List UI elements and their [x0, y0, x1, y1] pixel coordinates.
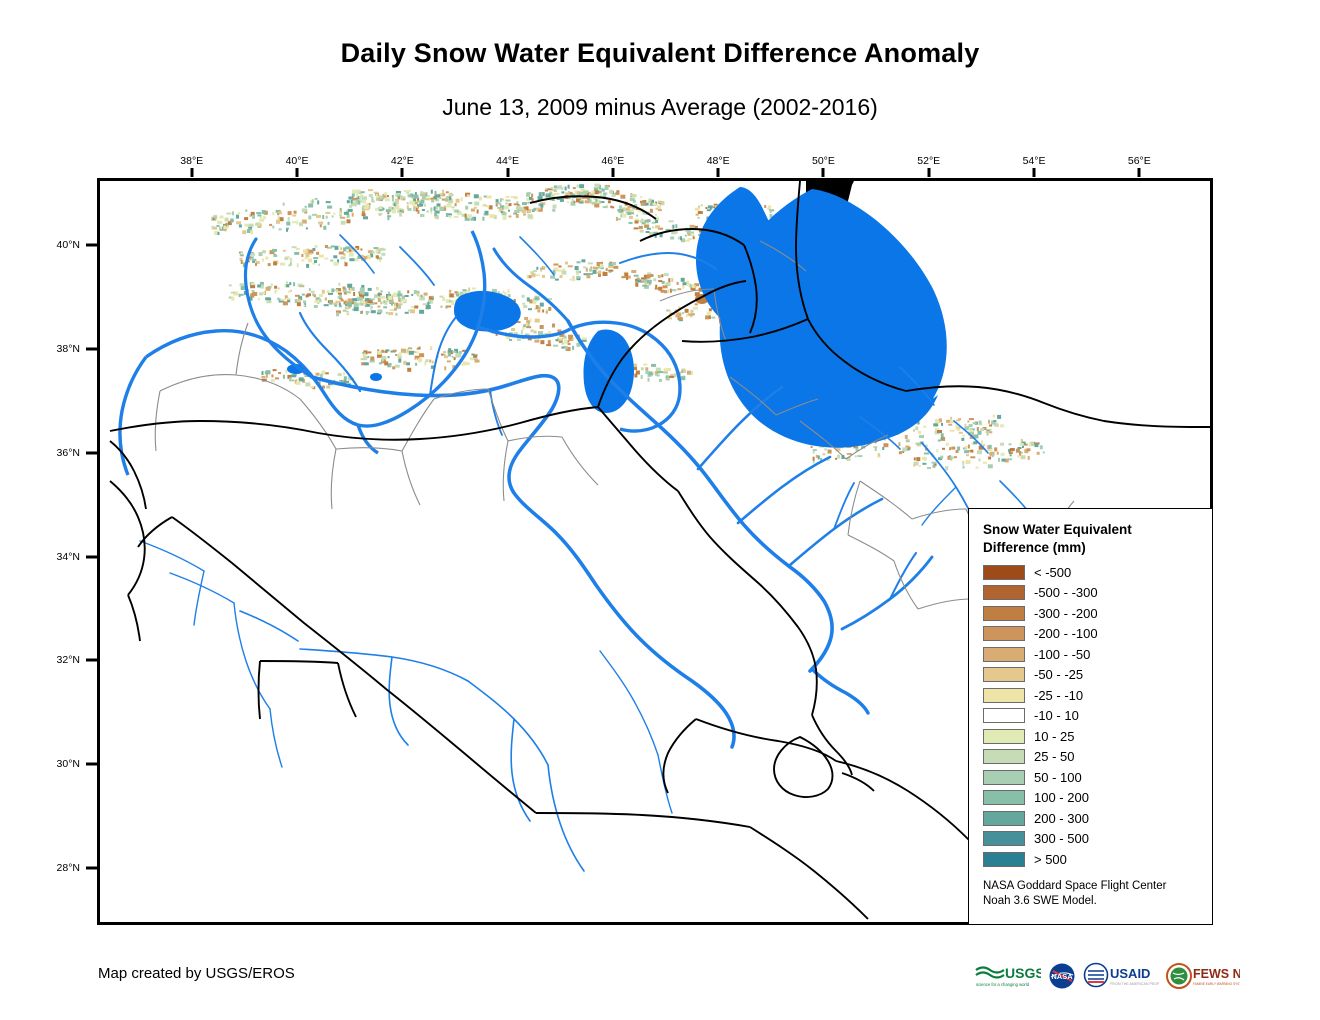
legend-row[interactable]: < -500	[983, 562, 1202, 583]
map-credit: Map created by USGS/EROS	[98, 965, 295, 982]
anomaly-pixel	[367, 351, 371, 353]
anomaly-pixel	[265, 257, 268, 260]
anomaly-pixel	[924, 453, 929, 455]
anomaly-pixel	[487, 196, 492, 199]
anomaly-pixel	[653, 278, 656, 281]
anomaly-pixel	[963, 466, 965, 469]
anomaly-pixel	[388, 296, 392, 300]
anomaly-pixel	[1021, 455, 1026, 459]
anomaly-pixel	[620, 213, 624, 215]
anomaly-pixel	[643, 364, 647, 366]
anomaly-pixel	[346, 381, 349, 383]
anomaly-pixel	[343, 287, 346, 290]
anomaly-pixel	[239, 294, 244, 296]
anomaly-pixel	[621, 210, 623, 212]
anomaly-pixel	[319, 255, 324, 258]
anomaly-pixel	[603, 272, 608, 276]
anomaly-pixel	[599, 201, 601, 204]
anomaly-pixel	[600, 264, 603, 268]
anomaly-pixel	[629, 216, 633, 219]
anomaly-pixel	[659, 379, 662, 382]
anomaly-pixel	[965, 424, 967, 427]
anomaly-pixel	[1040, 445, 1043, 449]
anomaly-pixel	[338, 373, 342, 376]
legend-row[interactable]: 200 - 300	[983, 808, 1202, 829]
anomaly-pixel	[590, 266, 592, 268]
legend-row[interactable]: 10 - 25	[983, 726, 1202, 747]
anomaly-pixel	[392, 198, 394, 202]
anomaly-pixel	[568, 265, 573, 267]
anomaly-pixel	[364, 362, 369, 365]
anomaly-pixel	[331, 245, 335, 247]
anomaly-pixel	[997, 415, 1001, 419]
anomaly-pixel	[661, 274, 663, 277]
anomaly-pixel	[608, 200, 611, 203]
anomaly-pixel	[431, 190, 433, 194]
legend-label: < -500	[1034, 565, 1071, 580]
legend-row[interactable]: 50 - 100	[983, 767, 1202, 788]
anomaly-pixel	[395, 365, 400, 368]
anomaly-pixel	[361, 311, 363, 314]
legend-row[interactable]: -100 - -50	[983, 644, 1202, 665]
anomaly-pixel	[278, 372, 281, 374]
anomaly-pixel	[231, 292, 236, 294]
anomaly-pixel	[419, 298, 424, 300]
anomaly-pixel	[562, 271, 567, 275]
legend-label: 100 - 200	[1034, 790, 1089, 805]
anomaly-pixel	[485, 211, 489, 215]
legend-swatch	[983, 790, 1025, 805]
anomaly-pixel	[565, 187, 567, 191]
anomaly-pixel	[634, 275, 639, 277]
anomaly-pixel	[527, 192, 531, 194]
anomaly-pixel	[315, 245, 318, 248]
anomaly-pixel	[285, 298, 290, 300]
legend-row[interactable]: > 500	[983, 849, 1202, 870]
anomaly-pixel	[354, 307, 359, 311]
anomaly-pixel	[956, 419, 960, 421]
anomaly-pixel	[562, 343, 564, 345]
anomaly-pixel	[418, 358, 422, 362]
legend-swatch	[983, 606, 1025, 621]
anomaly-pixel	[381, 253, 385, 256]
legend-row[interactable]: -300 - -200	[983, 603, 1202, 624]
anomaly-pixel	[678, 317, 683, 320]
anomaly-pixel	[686, 314, 688, 317]
anomaly-pixel	[385, 351, 388, 353]
anomaly-pixel	[272, 226, 274, 229]
anomaly-pixel	[683, 282, 687, 285]
anomaly-pixel	[655, 373, 658, 376]
anomaly-pixel	[446, 203, 451, 207]
anomaly-pixel	[257, 285, 261, 288]
anomaly-pixel	[286, 281, 288, 283]
anomaly-pixel	[402, 210, 404, 213]
legend-label: 200 - 300	[1034, 811, 1089, 826]
anomaly-pixel	[400, 210, 402, 212]
legend-row[interactable]: 25 - 50	[983, 747, 1202, 768]
anomaly-pixel	[343, 372, 345, 375]
anomaly-pixel	[636, 280, 641, 283]
anomaly-pixel	[652, 226, 654, 228]
anomaly-pixel	[256, 212, 261, 214]
anomaly-pixel	[919, 465, 921, 467]
anomaly-pixel	[278, 287, 280, 289]
legend-row[interactable]: -200 - -100	[983, 624, 1202, 645]
anomaly-pixel	[522, 303, 525, 305]
anomaly-pixel	[347, 284, 352, 288]
anomaly-pixel	[311, 291, 315, 293]
anomaly-pixel	[376, 250, 379, 253]
anomaly-pixel	[308, 258, 312, 262]
anomaly-pixel	[479, 197, 482, 201]
anomaly-pixel	[940, 456, 943, 459]
anomaly-pixel	[669, 310, 671, 313]
anomaly-pixel	[239, 225, 242, 228]
page-subtitle: June 13, 2009 minus Average (2002-2016)	[0, 94, 1320, 121]
anomaly-pixel	[937, 430, 942, 433]
anomaly-pixel	[989, 425, 992, 427]
anomaly-pixel	[390, 309, 395, 311]
legend-row[interactable]: -50 - -25	[983, 665, 1202, 686]
anomaly-pixel	[528, 275, 531, 278]
anomaly-pixel	[590, 199, 592, 203]
anomaly-pixel	[250, 293, 254, 297]
anomaly-pixel	[658, 275, 661, 278]
anomaly-pixel	[936, 449, 938, 452]
anomaly-pixel	[605, 186, 609, 190]
anomaly-pixel	[580, 202, 584, 204]
anomaly-pixel	[345, 246, 350, 249]
anomaly-pixel	[471, 209, 475, 212]
anomaly-pixel	[252, 215, 255, 219]
anomaly-pixel	[540, 268, 545, 270]
anomaly-pixel	[1010, 448, 1015, 451]
legend-note-line1: NASA Goddard Space Flight Center	[983, 879, 1202, 894]
anomaly-pixel	[633, 200, 636, 203]
anomaly-pixel	[588, 198, 590, 200]
svg-text:science for a changing world: science for a changing world	[976, 982, 1030, 987]
anomaly-pixel	[962, 461, 964, 465]
legend-label: -50 - -25	[1034, 667, 1083, 682]
anomaly-pixel	[316, 252, 319, 255]
legend-row[interactable]: 100 - 200	[983, 788, 1202, 809]
anomaly-pixel	[252, 259, 256, 261]
fewsnet-logo: FEWS NET FAMINE EARLY WARNING SYSTEMS NE…	[1166, 961, 1240, 991]
anomaly-pixel	[527, 202, 529, 204]
anomaly-pixel	[634, 367, 637, 370]
anomaly-pixel	[429, 360, 431, 363]
anomaly-pixel	[523, 214, 526, 216]
longitude-tick-label: 42°E	[391, 155, 414, 167]
anomaly-pixel	[661, 290, 665, 293]
anomaly-pixel	[898, 442, 900, 446]
anomaly-pixel	[241, 252, 243, 254]
anomaly-pixel	[640, 196, 642, 198]
anomaly-pixel	[417, 348, 419, 350]
anomaly-pixel	[545, 188, 547, 190]
anomaly-pixel	[387, 215, 391, 217]
anomaly-pixel	[1001, 453, 1005, 456]
anomaly-pixel	[313, 257, 318, 259]
svg-text:FAMINE EARLY WARNING SYSTEMS N: FAMINE EARLY WARNING SYSTEMS NETWORK	[1193, 982, 1240, 986]
anomaly-pixel	[212, 226, 214, 229]
anomaly-pixel	[430, 346, 432, 349]
latitude-tick-label: 40°N	[57, 239, 80, 251]
anomaly-pixel	[577, 185, 579, 188]
anomaly-pixel	[484, 196, 487, 198]
anomaly-pixel	[696, 214, 699, 216]
anomaly-pixel	[403, 299, 407, 302]
anomaly-pixel	[439, 207, 444, 211]
anomaly-pixel	[348, 298, 353, 302]
latitude-tick-label: 36°N	[57, 447, 80, 459]
anomaly-pixel	[945, 466, 948, 470]
anomaly-pixel	[595, 199, 597, 202]
anomaly-pixel	[672, 225, 674, 229]
anomaly-pixel	[290, 260, 292, 263]
legend-label: -100 - -50	[1034, 647, 1090, 662]
anomaly-pixel	[950, 430, 955, 432]
anomaly-pixel	[671, 289, 676, 291]
anomaly-pixel	[372, 251, 375, 254]
anomaly-pixel	[442, 190, 444, 194]
anomaly-pixel	[523, 305, 527, 308]
anomaly-pixel	[236, 215, 239, 219]
legend-row[interactable]: -500 - -300	[983, 583, 1202, 604]
anomaly-pixel	[508, 294, 511, 297]
anomaly-pixel	[496, 204, 498, 207]
anomaly-pixel	[546, 344, 551, 346]
anomaly-pixel	[274, 290, 276, 294]
anomaly-pixel	[417, 210, 419, 214]
legend-label: 10 - 25	[1034, 729, 1074, 744]
anomaly-pixel	[573, 187, 576, 189]
anomaly-pixel	[923, 426, 926, 428]
anomaly-pixel	[309, 288, 311, 291]
anomaly-pixel	[933, 423, 938, 426]
anomaly-pixel	[327, 206, 332, 209]
anomaly-pixel	[381, 356, 386, 359]
anomaly-pixel	[296, 379, 298, 381]
anomaly-pixel	[398, 359, 401, 363]
anomaly-pixel	[649, 199, 652, 202]
anomaly-pixel	[452, 356, 454, 358]
anomaly-pixel	[422, 214, 424, 217]
anomaly-pixel	[690, 310, 693, 313]
anomaly-pixel	[964, 450, 969, 453]
agency-logos: USGS science for a changing world NASA U…	[975, 955, 1215, 997]
anomaly-pixel	[347, 219, 351, 223]
anomaly-pixel	[631, 270, 636, 273]
legend-row[interactable]: -25 - -10	[983, 685, 1202, 706]
anomaly-pixel	[974, 434, 978, 438]
anomaly-pixel	[636, 371, 640, 375]
anomaly-pixel	[535, 296, 540, 300]
anomaly-pixel	[546, 311, 548, 314]
anomaly-pixel	[509, 203, 512, 206]
anomaly-pixel	[636, 215, 638, 217]
legend-label: 25 - 50	[1034, 749, 1074, 764]
anomaly-pixel	[461, 364, 463, 366]
anomaly-pixel	[226, 213, 231, 215]
anomaly-pixel	[306, 294, 309, 297]
latitude-tick-label: 38°N	[57, 343, 80, 355]
svg-text:NASA: NASA	[1051, 972, 1073, 981]
anomaly-pixel	[360, 249, 362, 251]
anomaly-pixel	[266, 374, 268, 378]
anomaly-pixel	[283, 203, 285, 206]
anomaly-pixel	[265, 371, 270, 374]
anomaly-pixel	[301, 259, 304, 261]
anomaly-pixel	[292, 221, 296, 223]
anomaly-pixel	[933, 465, 936, 468]
anomaly-pixel	[857, 455, 862, 457]
anomaly-pixel	[448, 215, 450, 217]
anomaly-pixel	[345, 262, 348, 266]
anomaly-pixel	[339, 252, 344, 255]
anomaly-pixel	[708, 205, 713, 208]
anomaly-pixel	[977, 450, 982, 454]
latitude-tick-label: 34°N	[57, 551, 80, 563]
anomaly-pixel	[240, 283, 245, 286]
anomaly-pixel	[291, 374, 296, 377]
map-legend[interactable]: Snow Water Equivalent Difference (mm) < …	[968, 508, 1213, 925]
anomaly-pixel	[245, 210, 247, 212]
anomaly-pixel	[379, 362, 382, 364]
anomaly-pixel	[969, 418, 974, 420]
anomaly-pixel	[327, 290, 330, 293]
longitude-tick-mark	[296, 168, 299, 177]
anomaly-pixel	[437, 203, 441, 206]
legend-row[interactable]: 300 - 500	[983, 829, 1202, 850]
anomaly-pixel	[640, 230, 644, 233]
anomaly-pixel	[579, 184, 584, 188]
anomaly-pixel	[236, 221, 241, 224]
anomaly-pixel	[620, 195, 625, 199]
anomaly-pixel	[621, 276, 626, 278]
anomaly-pixel	[483, 204, 486, 207]
anomaly-pixel	[294, 211, 297, 214]
legend-swatch	[983, 852, 1025, 867]
anomaly-pixel	[299, 222, 303, 226]
latitude-tick-mark	[86, 348, 97, 351]
anomaly-pixel	[902, 447, 907, 451]
anomaly-pixel	[361, 191, 365, 193]
anomaly-pixel	[378, 293, 380, 297]
anomaly-pixel	[320, 374, 323, 378]
anomaly-pixel	[847, 453, 852, 455]
anomaly-pixel	[419, 353, 424, 357]
anomaly-pixel	[553, 264, 558, 266]
anomaly-pixel	[335, 301, 340, 303]
anomaly-pixel	[642, 285, 647, 287]
anomaly-pixel	[369, 303, 374, 305]
anomaly-pixel	[534, 340, 539, 343]
anomaly-pixel	[538, 331, 543, 335]
anomaly-pixel	[568, 343, 571, 345]
anomaly-pixel	[299, 285, 304, 287]
anomaly-pixel	[957, 447, 960, 451]
nasa-logo: NASA	[1048, 961, 1076, 991]
anomaly-pixel	[326, 386, 330, 389]
anomaly-pixel	[658, 371, 663, 373]
legend-label: > 500	[1034, 852, 1067, 867]
anomaly-pixel	[652, 203, 656, 205]
legend-row[interactable]: -10 - 10	[983, 706, 1202, 727]
anomaly-pixel	[443, 351, 446, 353]
anomaly-pixel	[1037, 452, 1040, 455]
anomaly-pixel	[593, 270, 597, 274]
anomaly-pixel	[621, 215, 623, 218]
anomaly-pixel	[271, 284, 273, 286]
anomaly-pixel	[380, 296, 385, 299]
anomaly-pixel	[392, 209, 396, 213]
anomaly-pixel	[332, 215, 334, 217]
anomaly-pixel	[1010, 454, 1012, 456]
anomaly-pixel	[395, 313, 397, 316]
anomaly-pixel	[340, 208, 342, 210]
legend-note-line2: Noah 3.6 SWE Model.	[983, 894, 1202, 909]
anomaly-pixel	[371, 310, 376, 313]
anomaly-pixel	[969, 424, 973, 427]
anomaly-pixel	[419, 310, 424, 314]
anomaly-pixel	[948, 424, 952, 426]
legend-swatch	[983, 565, 1025, 580]
anomaly-pixel	[217, 225, 220, 227]
anomaly-pixel	[352, 194, 355, 197]
anomaly-pixel	[963, 435, 965, 438]
anomaly-pixel	[441, 354, 444, 356]
anomaly-pixel	[647, 228, 651, 230]
anomaly-pixel	[641, 367, 644, 370]
anomaly-pixel	[687, 230, 691, 234]
anomaly-pixel	[641, 218, 643, 221]
anomaly-pixel	[474, 217, 476, 221]
anomaly-pixel	[768, 206, 771, 210]
anomaly-pixel	[366, 311, 370, 313]
anomaly-pixel	[395, 354, 397, 356]
anomaly-pixel	[281, 299, 285, 301]
anomaly-pixel	[588, 262, 593, 264]
anomaly-pixel	[262, 250, 266, 253]
anomaly-pixel	[419, 295, 421, 298]
anomaly-pixel	[906, 439, 910, 442]
anomaly-pixel	[302, 294, 305, 296]
anomaly-pixel	[446, 213, 448, 217]
anomaly-pixel	[557, 185, 562, 189]
anomaly-pixel	[687, 371, 691, 375]
anomaly-pixel	[329, 301, 332, 305]
anomaly-pixel	[405, 295, 409, 297]
anomaly-pixel	[425, 359, 428, 362]
anomaly-pixel	[379, 248, 384, 251]
anomaly-pixel	[444, 366, 446, 370]
anomaly-pixel	[530, 319, 532, 322]
anomaly-pixel	[317, 200, 319, 204]
anomaly-pixel	[455, 291, 458, 293]
anomaly-pixel	[650, 209, 653, 213]
anomaly-pixel	[220, 227, 222, 230]
legend-title-line1: Snow Water Equivalent	[983, 521, 1202, 539]
anomaly-pixel	[399, 213, 402, 217]
anomaly-pixel	[540, 204, 543, 208]
anomaly-pixel	[333, 213, 335, 215]
anomaly-pixel	[379, 213, 381, 216]
latitude-tick-label: 32°N	[57, 654, 80, 666]
anomaly-pixel	[502, 291, 504, 293]
anomaly-pixel	[306, 264, 309, 268]
